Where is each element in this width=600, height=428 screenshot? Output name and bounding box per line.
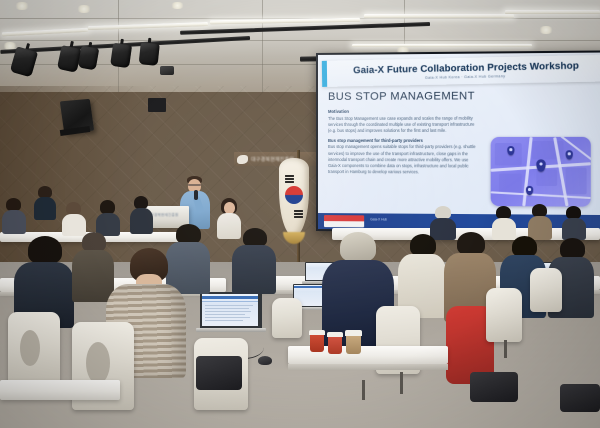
presentation-slide: Gaia-X Future Collaboration Projects Wor… bbox=[318, 53, 600, 232]
workshop-banner: Gaia-X Future Collaboration Projects Wor… bbox=[322, 55, 600, 87]
footer-note: Gaia-X Hub bbox=[370, 217, 387, 221]
section-body: The Bus Stop Management use case expands… bbox=[328, 115, 478, 134]
chair-leg bbox=[400, 372, 403, 394]
strip-light bbox=[505, 10, 600, 14]
audience-member bbox=[34, 186, 56, 220]
table bbox=[0, 380, 120, 400]
ceiling-projector bbox=[160, 66, 174, 75]
audience-member bbox=[96, 200, 120, 236]
slide-body: BUS STOP MANAGEMENT Motivation The Bus S… bbox=[328, 90, 597, 217]
microphone-icon[interactable] bbox=[194, 190, 198, 200]
bag bbox=[560, 384, 600, 412]
laptop[interactable] bbox=[196, 292, 266, 334]
section-heading: Motivation bbox=[328, 108, 478, 113]
coffee-cup[interactable] bbox=[346, 330, 361, 354]
audience-member bbox=[62, 202, 86, 236]
chair-leg bbox=[362, 380, 365, 400]
conference-room-photo: 대구경북현재진흥원 Gaia-X Future Collaboration Pr… bbox=[0, 0, 600, 428]
slide-text-column: Motivation The Bus Stop Management use c… bbox=[328, 108, 478, 175]
banner-subtitle: Gaia-X Hub Korea · Gaia-X Hub Germany bbox=[425, 74, 505, 80]
map-pin bbox=[566, 150, 573, 159]
chair-leg bbox=[504, 340, 507, 358]
taeguk-circle-icon bbox=[285, 186, 303, 204]
bag bbox=[196, 356, 242, 390]
footer-flag-graphic bbox=[324, 215, 364, 227]
strip-light bbox=[364, 14, 514, 18]
recessed-light bbox=[76, 5, 92, 13]
chair[interactable] bbox=[8, 312, 60, 388]
coffee-cup[interactable] bbox=[310, 330, 324, 352]
map-illustration bbox=[491, 137, 591, 207]
banner-title: Gaia-X Future Collaboration Projects Wor… bbox=[353, 60, 579, 76]
eyeglasses-icon bbox=[188, 184, 201, 186]
coffee-cup[interactable] bbox=[328, 332, 342, 354]
section-body: Bus stop management opens suitable stops… bbox=[328, 144, 478, 175]
audience-member bbox=[562, 206, 586, 240]
korean-flag bbox=[279, 158, 309, 244]
audience-member bbox=[528, 204, 552, 240]
wall-dark-panel bbox=[148, 98, 166, 112]
institution-logo-icon bbox=[237, 155, 248, 164]
stage-spotlight bbox=[139, 37, 161, 65]
slide-title: BUS STOP MANAGEMENT bbox=[328, 90, 597, 103]
audience-member bbox=[232, 228, 276, 294]
mouse[interactable] bbox=[258, 356, 272, 365]
recessed-light bbox=[14, 2, 30, 10]
chair[interactable] bbox=[530, 268, 562, 312]
flag-fringe bbox=[283, 232, 305, 244]
recessed-light bbox=[170, 2, 185, 9]
bag bbox=[470, 372, 518, 402]
stage-spotlight bbox=[78, 41, 100, 70]
section-heading: Bus stop management for third-party prov… bbox=[328, 138, 478, 143]
strip-light bbox=[2, 28, 88, 36]
strip-light bbox=[352, 44, 532, 47]
audience-member bbox=[2, 198, 26, 234]
recessed-light bbox=[538, 26, 554, 34]
projection-screen: Gaia-X Future Collaboration Projects Wor… bbox=[316, 50, 600, 233]
stage-spotlight bbox=[110, 38, 133, 67]
strip-light bbox=[88, 22, 208, 30]
chair[interactable] bbox=[272, 298, 302, 338]
audience-member bbox=[130, 196, 153, 234]
chair[interactable] bbox=[486, 288, 522, 342]
